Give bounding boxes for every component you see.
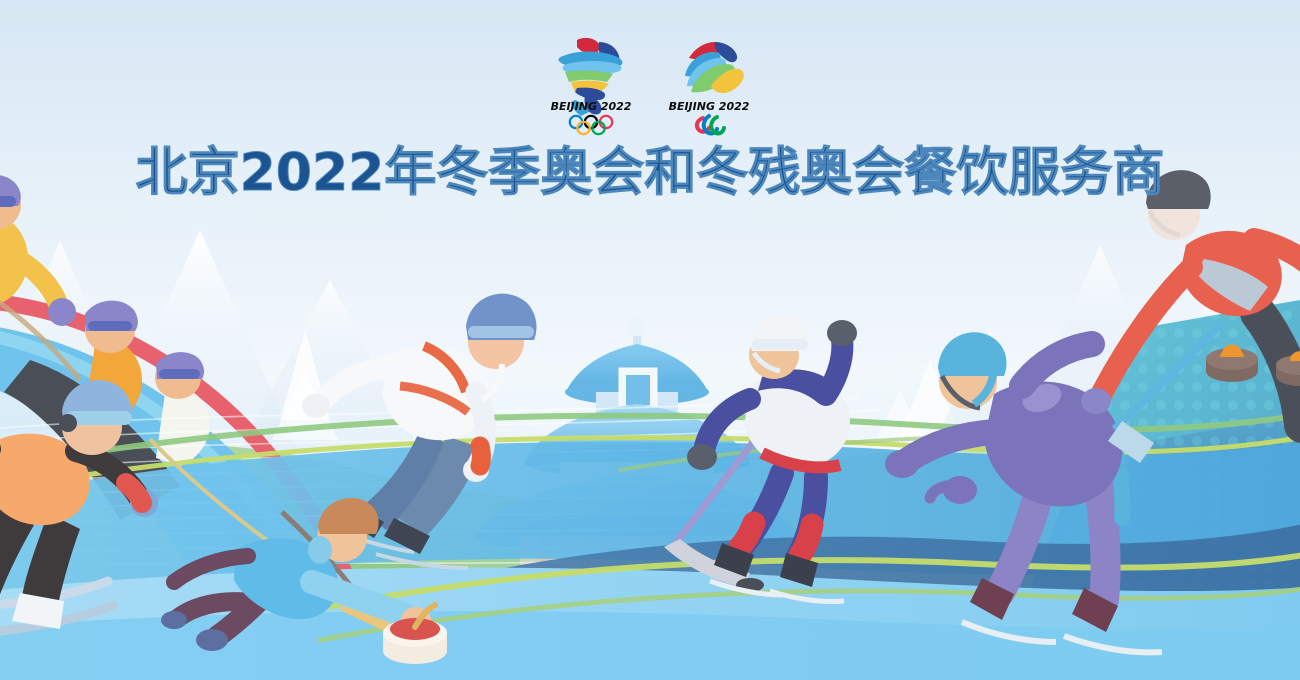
curler-thrower (1081, 170, 1300, 463)
page-title: 北京2022年冬季奥会和冬残奥会餐饮服务商 (0, 144, 1300, 202)
beijing-2022-catering-banner: BEIJING 2022 (0, 0, 1300, 680)
ice-hockey-player (664, 315, 857, 601)
beijing-2022-paralympic-emblem: BEIJING 2022 (659, 30, 759, 142)
curling-stone-orange (1206, 345, 1258, 383)
olympic-wordmark: BEIJING 2022 (551, 100, 632, 113)
beijing-2022-olympic-emblem: BEIJING 2022 (541, 30, 641, 142)
emblem-row: BEIJING 2022 (0, 30, 1300, 142)
paralympic-wordmark: BEIJING 2022 (669, 100, 750, 113)
stray-glove-icon (930, 476, 977, 504)
